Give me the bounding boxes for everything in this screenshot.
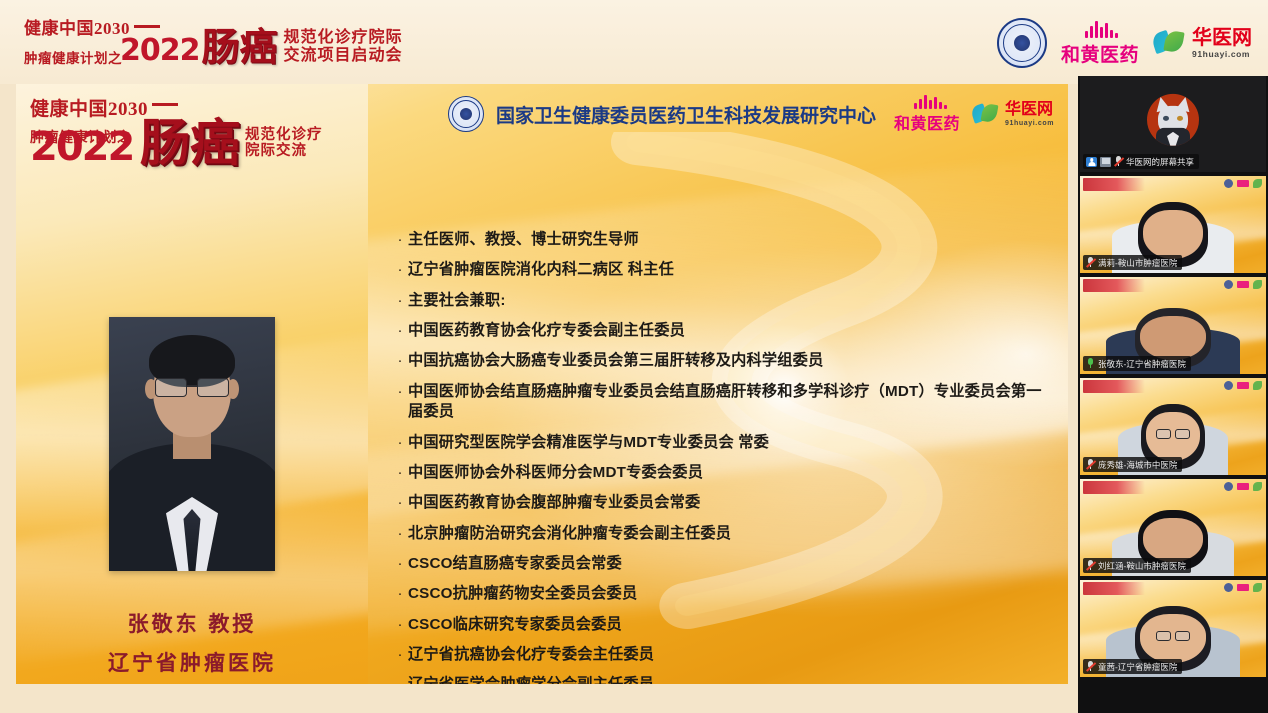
- tile-label-bar: 童茜-辽宁省肿瘤医院: [1083, 659, 1182, 674]
- bullet-spacer: [392, 635, 1042, 645]
- bullet-item: ·中国医师协会外科医师分会MDT专委会委员: [392, 463, 1042, 483]
- person-icon: [1086, 157, 1097, 167]
- bullet-item: ·辽宁省医学会肿瘤学分会副主任委员: [392, 675, 1042, 684]
- bullet-spacer: [392, 423, 1042, 433]
- bullet-marker: ·: [392, 382, 408, 402]
- slide-title-line1: 健康中国2030: [30, 94, 148, 121]
- bullet-text: 中国医药教育协会腹部肿瘤专业委员会常委: [408, 493, 1042, 513]
- bullet-item: ·CSCO抗肿瘤药物安全委员会委员: [392, 584, 1042, 604]
- bullet-text: 主要社会兼职:: [408, 291, 1042, 311]
- slide-title-right1: 规范化诊疗: [245, 127, 323, 144]
- bullet-text: 辽宁省肿瘤医院消化内科二病区 科主任: [408, 260, 1042, 280]
- microphone-active-icon[interactable]: [1086, 358, 1095, 369]
- banner-year: 2022: [120, 37, 200, 66]
- top-logo-cluster: 和黄医药 华医网 91huayi.com: [997, 18, 1252, 68]
- eyeglasses-icon: [155, 377, 229, 397]
- bullet-spacer: [392, 514, 1042, 524]
- participant-name-label: 童茜-辽宁省肿瘤医院: [1098, 661, 1177, 673]
- organizer-name: 国家卫生健康委员医药卫生科技发展研究中心: [496, 101, 876, 128]
- equalizer-bars-icon: [914, 94, 947, 109]
- microphone-muted-icon[interactable]: [1086, 661, 1095, 672]
- screen-share-icon: [1100, 157, 1111, 167]
- bullet-spacer: [392, 250, 1042, 260]
- bullet-text: CSCO结直肠癌专家委员会常委: [408, 554, 1042, 574]
- bullet-item: ·辽宁省抗癌协会化疗专委会主任委员: [392, 645, 1042, 665]
- leaf-icon: [972, 103, 1000, 125]
- participant-video-tile[interactable]: 刘红涵-鞍山市肿瘤医院: [1080, 479, 1266, 576]
- slide-platform-logo: 华医网 91huayi.com: [972, 102, 1054, 127]
- microphone-muted-icon[interactable]: [1086, 257, 1095, 268]
- participant-video-tile[interactable]: 张敬东-辽宁省肿瘤医院: [1080, 277, 1266, 374]
- leaf-icon: [1153, 30, 1187, 56]
- bullet-text: 辽宁省抗癌协会化疗专委会主任委员: [408, 645, 1042, 665]
- bullet-item: ·主要社会兼职:: [392, 291, 1042, 311]
- bullet-spacer: [392, 281, 1042, 291]
- participant-video-rail[interactable]: 华医网的屏幕共享满莉-鞍山市肿瘤医院张敬东-辽宁省肿瘤医院庞秀雄-海城市中医院刘…: [1078, 76, 1268, 713]
- bullet-marker: ·: [392, 291, 408, 311]
- event-banner-title: 健康中国2030 肿瘤健康计划之 2022 肠癌 规范化诊疗院际 交流项目启动会: [24, 20, 494, 72]
- sponsor-name: 和黄医药: [1061, 40, 1139, 67]
- participant-name-label: 满莉-鞍山市肿瘤医院: [1098, 257, 1177, 269]
- bullet-item: ·中国医药教育协会腹部肿瘤专业委员会常委: [392, 493, 1042, 513]
- speaker-name: 张敬东 教授: [16, 608, 368, 638]
- slide-left-column: 健康中国2030 肿瘤健康计划之 2022 肠癌 规范化诊疗 院际交流: [16, 84, 368, 684]
- bullet-spacer: [392, 574, 1042, 584]
- bullet-spacer: [392, 483, 1042, 493]
- banner-right-line1: 规范化诊疗院际: [284, 29, 403, 47]
- equalizer-bars-icon: [1085, 20, 1118, 38]
- bullet-spacer: [392, 605, 1042, 615]
- bullet-text: 中国医师协会结直肠癌肿瘤专业委员会结直肠癌肝转移和多学科诊疗（MDT）专业委员会…: [408, 382, 1042, 423]
- bullet-item: ·辽宁省肿瘤医院消化内科二病区 科主任: [392, 260, 1042, 280]
- bullet-item: ·中国医药教育协会化疗专委会副主任委员: [392, 321, 1042, 341]
- slide-title-dash: [152, 103, 178, 106]
- bullet-spacer: [392, 665, 1042, 675]
- participant-video-tile[interactable]: 满莉-鞍山市肿瘤医院: [1080, 176, 1266, 273]
- bullet-marker: ·: [392, 351, 408, 371]
- bullet-marker: ·: [392, 321, 408, 341]
- ministry-seal-icon: [448, 96, 484, 132]
- participant-name-label: 庞秀雄-海城市中医院: [1098, 459, 1177, 471]
- bullet-spacer: [392, 544, 1042, 554]
- slide-platform-domain: 91huayi.com: [1005, 120, 1054, 127]
- platform-logo: 华医网 91huayi.com: [1153, 28, 1252, 59]
- slide-title-keyword: 肠癌: [140, 123, 240, 164]
- bullet-marker: ·: [392, 463, 408, 483]
- bullet-text: CSCO抗肿瘤药物安全委员会委员: [408, 584, 1042, 604]
- bullet-item: ·中国医师协会结直肠癌肿瘤专业委员会结直肠癌肝转移和多学科诊疗（MDT）专业委员…: [392, 382, 1042, 423]
- bullet-item: ·CSCO结直肠癌专家委员会常委: [392, 554, 1042, 574]
- tile-label-bar: 刘红涵-鞍山市肿瘤医院: [1083, 558, 1191, 573]
- government-seal-icon: [997, 18, 1047, 68]
- tile-label-bar: 华医网的屏幕共享: [1083, 154, 1199, 169]
- platform-name: 华医网: [1192, 28, 1252, 48]
- microphone-muted-icon[interactable]: [1114, 156, 1123, 167]
- bullet-spacer: [392, 453, 1042, 463]
- banner-line2: 肿瘤健康计划之: [24, 52, 122, 66]
- banner-line1: 健康中国2030: [24, 20, 130, 37]
- bullet-marker: ·: [392, 554, 408, 574]
- participant-name-label: 刘红涵-鞍山市肿瘤医院: [1098, 560, 1186, 572]
- microphone-muted-icon[interactable]: [1086, 560, 1095, 571]
- bullet-text: 中国抗癌协会大肠癌专业委员会第三届肝转移及内科学组委员: [408, 351, 1042, 371]
- banner-right-line2: 交流项目启动会: [284, 47, 403, 65]
- speaker-portrait-photo: [109, 317, 275, 571]
- bullet-spacer: [392, 372, 1042, 382]
- tile-label-bar: 张敬东-辽宁省肿瘤医院: [1083, 356, 1191, 371]
- banner-dash: [134, 25, 160, 28]
- bullet-text: 中国医师协会外科医师分会MDT专委会委员: [408, 463, 1042, 483]
- top-banner-strip: 健康中国2030 肿瘤健康计划之 2022 肠癌 规范化诊疗院际 交流项目启动会: [0, 0, 1268, 84]
- participant-name-label: 华医网的屏幕共享: [1126, 156, 1194, 168]
- slide-header-logos: 国家卫生健康委员医药卫生科技发展研究中心 和黄医药 华医网 91huayi.co…: [448, 94, 1054, 134]
- bullet-marker: ·: [392, 524, 408, 544]
- speaker-organization: 辽宁省肿瘤医院: [16, 647, 368, 677]
- slide-title-right2: 院际交流: [245, 143, 323, 160]
- bullet-item: ·北京肿瘤防治研究会消化肿瘤专委会副主任委员: [392, 524, 1042, 544]
- bullet-item: ·中国抗癌协会大肠癌专业委员会第三届肝转移及内科学组委员: [392, 351, 1042, 371]
- participant-name-label: 张敬东-辽宁省肿瘤医院: [1098, 358, 1186, 370]
- bullet-text: 辽宁省医学会肿瘤学分会副主任委员: [408, 675, 1042, 684]
- shared-slide: 健康中国2030 肿瘤健康计划之 2022 肠癌 规范化诊疗 院际交流: [16, 84, 1068, 684]
- webinar-screen: 健康中国2030 肿瘤健康计划之 2022 肠癌 规范化诊疗院际 交流项目启动会: [0, 0, 1268, 713]
- avatar: [1147, 94, 1199, 146]
- slide-platform-name: 华医网: [1005, 102, 1054, 118]
- bullet-spacer: [392, 311, 1042, 321]
- slide-event-title: 健康中国2030 肿瘤健康计划之 2022 肠癌 规范化诊疗 院际交流: [30, 94, 360, 164]
- bullet-marker: ·: [392, 433, 408, 453]
- bullet-marker: ·: [392, 615, 408, 635]
- screen-share-tile[interactable]: 华医网的屏幕共享: [1080, 76, 1266, 172]
- bullet-item: ·主任医师、教授、博士研究生导师: [392, 230, 1042, 250]
- slide-sponsor-name: 和黄医药: [894, 110, 960, 134]
- bullet-text: 北京肿瘤防治研究会消化肿瘤专委会副主任委员: [408, 524, 1042, 544]
- bullet-spacer: [392, 341, 1042, 351]
- bullet-text: 主任医师、教授、博士研究生导师: [408, 230, 1042, 250]
- bullet-marker: ·: [392, 584, 408, 604]
- sponsor-logo: 和黄医药: [1061, 20, 1139, 67]
- bullet-text: CSCO临床研究专家委员会委员: [408, 615, 1042, 635]
- slide-sponsor-logo: 和黄医药: [894, 94, 960, 134]
- bullet-marker: ·: [392, 675, 408, 684]
- bullet-marker: ·: [392, 645, 408, 665]
- bullet-text: 中国医药教育协会化疗专委会副主任委员: [408, 321, 1042, 341]
- credentials-bullet-list: ·主任医师、教授、博士研究生导师·辽宁省肿瘤医院消化内科二病区 科主任·主要社会…: [392, 230, 1042, 684]
- participant-video-tile[interactable]: 庞秀雄-海城市中医院: [1080, 378, 1266, 475]
- banner-keyword: 肠癌: [202, 31, 278, 65]
- platform-domain: 91huayi.com: [1192, 50, 1252, 59]
- bullet-item: ·CSCO临床研究专家委员会委员: [392, 615, 1042, 635]
- tile-label-bar: 庞秀雄-海城市中医院: [1083, 457, 1182, 472]
- bullet-marker: ·: [392, 230, 408, 250]
- bullet-text: 中国研究型医院学会精准医学与MDT专业委员会 常委: [408, 433, 1042, 453]
- bullet-marker: ·: [392, 493, 408, 513]
- microphone-muted-icon[interactable]: [1086, 459, 1095, 470]
- slide-title-year: 2022: [30, 131, 138, 164]
- tile-label-bar: 满莉-鞍山市肿瘤医院: [1083, 255, 1182, 270]
- bullet-item: ·中国研究型医院学会精准医学与MDT专业委员会 常委: [392, 433, 1042, 453]
- bullet-marker: ·: [392, 260, 408, 280]
- participant-video-tile[interactable]: 童茜-辽宁省肿瘤医院: [1080, 580, 1266, 677]
